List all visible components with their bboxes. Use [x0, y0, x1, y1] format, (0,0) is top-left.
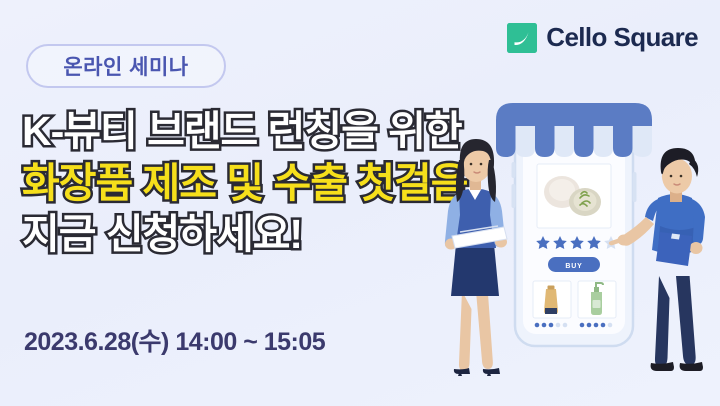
cello-swoosh-icon — [507, 23, 537, 53]
badge-label: 온라인 세미나 — [63, 51, 188, 81]
product-thumbnail-1[interactable] — [533, 281, 571, 318]
buy-button[interactable]: BUY — [548, 257, 600, 272]
shopping-illustration: BUY — [430, 76, 720, 406]
buy-button-label: BUY — [565, 263, 582, 270]
logo-wordmark: Cello Square — [546, 22, 698, 53]
schedule-text: 2023.6.28(수) 14:00 ~ 15:05 — [24, 322, 325, 358]
status-badge: 온라인 세미나 — [26, 44, 226, 88]
product-thumbnail-2[interactable] — [578, 281, 616, 318]
seminar-promo-banner: Cello Square 온라인 세미나 K-뷰티 브랜드 런칭을 위한 화장품… — [0, 0, 720, 406]
woman-with-documents — [445, 139, 507, 376]
cello-square-logo[interactable]: Cello Square — [507, 22, 698, 53]
phone-shop-graphic: BUY — [496, 103, 652, 346]
